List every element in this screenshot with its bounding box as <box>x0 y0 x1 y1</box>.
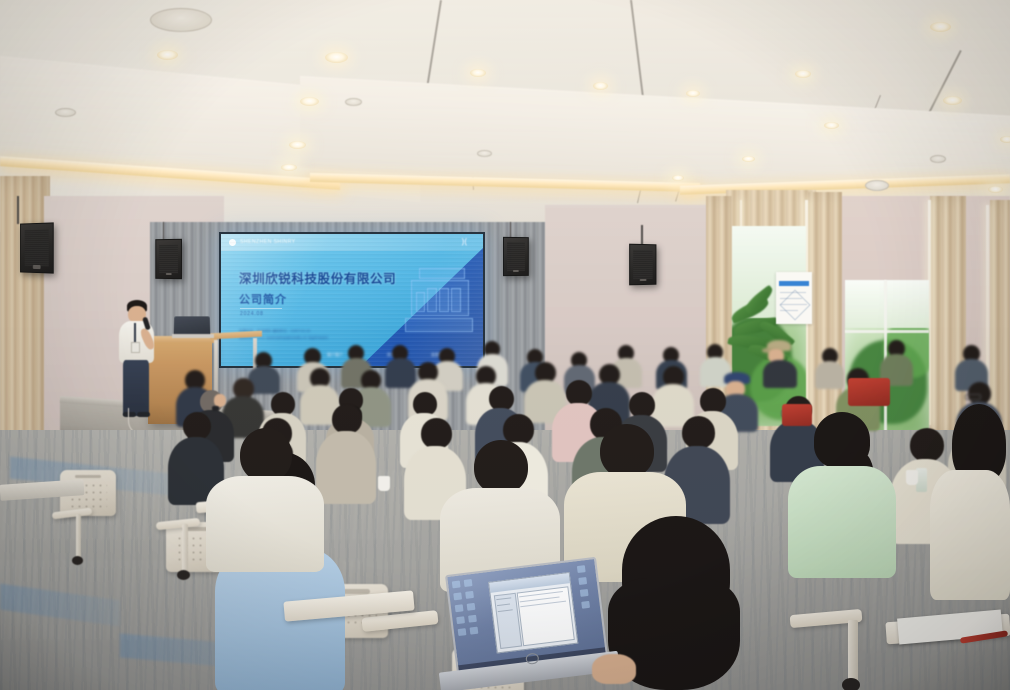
chair-leg <box>76 514 81 558</box>
ceiling-downlight <box>593 82 608 90</box>
slide-circuit-graphic <box>427 288 437 312</box>
ceiling-downlight <box>300 97 319 106</box>
chair-caster <box>72 556 83 565</box>
slide-date: 2024.08 <box>240 311 264 317</box>
head <box>240 428 292 482</box>
red-bag <box>782 404 812 426</box>
ceiling-speaker <box>865 180 889 191</box>
hand-on-keyboard <box>592 654 636 684</box>
ceiling-downlight <box>795 70 811 78</box>
audience-member-with-cap <box>762 340 798 388</box>
red-bag <box>848 378 890 406</box>
slide-circuit-graphic <box>451 288 461 312</box>
speaker-cable <box>17 196 19 224</box>
wall-speaker-far-right <box>629 244 656 286</box>
ceiling-downlight <box>157 50 178 60</box>
shirt <box>930 470 1010 600</box>
conference-room-photo: SHENZHEN SHINRY )( 深圳欣锐科技股份有限公司 公司简介 202… <box>0 0 1010 690</box>
podium-laptop-base <box>172 334 214 338</box>
ceiling-downlight <box>988 186 1003 193</box>
chair-leg <box>848 620 858 684</box>
audience-member-foreground <box>206 428 324 568</box>
ceiling-downlight <box>325 52 348 63</box>
ceiling-downlight <box>824 122 839 129</box>
file-manager-window[interactable] <box>488 572 578 653</box>
wall-speaker-far-left <box>20 222 54 273</box>
company-logo-text: SHENZHEN SHINRY <box>240 238 295 246</box>
slide-circuit-graphic <box>405 318 473 332</box>
slide-divider <box>240 308 282 309</box>
presenter-lanyard <box>134 323 136 343</box>
wall-speaker-right <box>503 237 529 276</box>
poster-header-band <box>779 281 809 286</box>
paper-cup[interactable] <box>906 470 918 485</box>
smoke-detector <box>55 108 76 117</box>
audience-member-foreground <box>788 412 896 582</box>
ceiling-downlight <box>742 156 755 162</box>
slide-subtitle: 公司简介 <box>239 291 287 307</box>
ceiling-downlight <box>470 69 486 77</box>
smoke-detector <box>477 150 492 157</box>
slide-corner-mark: )( <box>462 237 467 246</box>
presenter-badge <box>131 342 140 353</box>
ceiling-downlight <box>1000 136 1010 143</box>
speaker-cable <box>641 225 643 245</box>
smoke-detector <box>345 98 362 106</box>
audience-member-foreground <box>930 404 1010 604</box>
chair-caster <box>842 678 860 690</box>
company-logo-icon <box>229 239 236 246</box>
shirt <box>206 476 324 572</box>
wall-speaker-left <box>155 239 182 279</box>
head <box>600 424 654 478</box>
chair-caster <box>177 570 190 580</box>
chair-leg <box>182 524 188 574</box>
paper-cup[interactable] <box>378 476 390 491</box>
eyeglasses <box>965 394 981 400</box>
shirt <box>788 466 896 578</box>
ceiling-downlight <box>930 22 951 32</box>
slide-circuit-graphic <box>416 292 425 312</box>
window-frame-mullion <box>845 330 929 333</box>
wristwatch <box>212 406 219 411</box>
ceiling-downlight <box>686 90 700 97</box>
ceiling-downlight <box>289 141 306 149</box>
ceiling-downlight <box>672 175 684 181</box>
slide-title: 深圳欣锐科技股份有限公司 <box>239 268 396 287</box>
ceiling-speaker <box>150 8 212 32</box>
slide-circuit-graphic <box>419 268 465 279</box>
smoke-detector <box>930 155 946 163</box>
ceiling-downlight <box>281 164 297 171</box>
ceiling-downlight <box>943 96 962 105</box>
wall-poster <box>776 272 812 324</box>
slide-circuit-graphic <box>439 288 449 312</box>
head <box>474 440 528 494</box>
speaker-cable <box>163 222 164 240</box>
speaker-cable <box>510 222 511 238</box>
